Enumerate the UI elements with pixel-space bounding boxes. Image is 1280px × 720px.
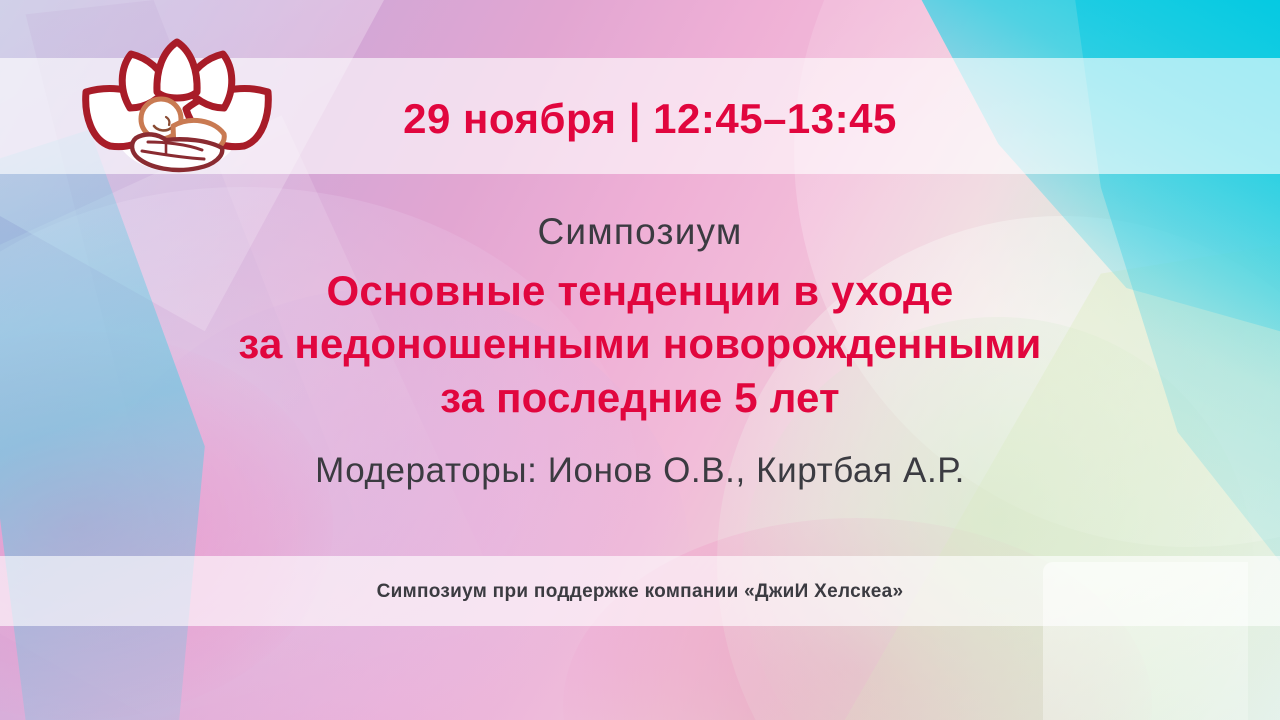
session-title: Основные тенденции в уходе за недоношенн… xyxy=(0,264,1280,425)
slide-root: 29 ноября | 12:45–13:45 Симпозиум Основн… xyxy=(0,0,1280,720)
session-title-line-2: за недоношенными новорожденными xyxy=(0,317,1280,371)
lotus-baby-logo-icon xyxy=(74,34,280,192)
session-title-line-1: Основные тенденции в уходе xyxy=(0,264,1280,318)
session-moderators: Модераторы: Ионов О.В., Киртбая А.Р. xyxy=(0,451,1280,491)
session-kicker: Симпозиум xyxy=(0,210,1280,254)
session-datetime: 29 ноября | 12:45–13:45 xyxy=(300,95,1000,143)
center-text-block: Симпозиум Основные тенденции в уходе за … xyxy=(0,210,1280,491)
session-title-line-3: за последние 5 лет xyxy=(0,371,1280,425)
sponsor-note: Симпозиум при поддержке компании «ДжиИ Х… xyxy=(0,581,1280,603)
